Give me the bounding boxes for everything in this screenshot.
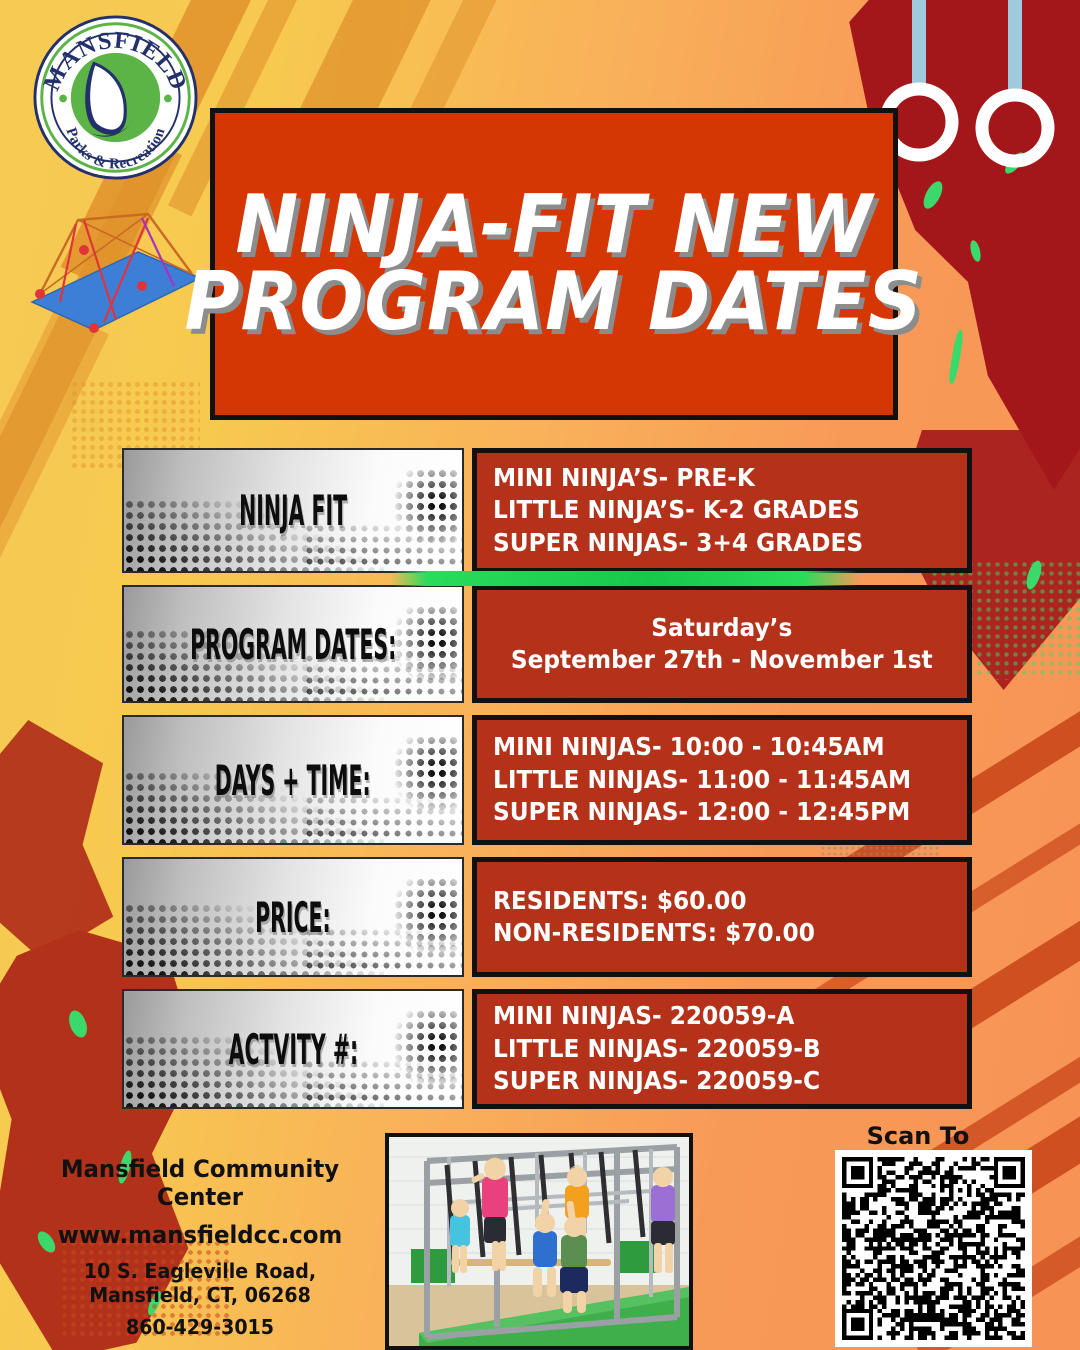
qr-code-image — [842, 1157, 1025, 1340]
contact-info: Mansfield Community Center www.mansfield… — [20, 1155, 380, 1339]
table-row: DAYS + TIME: MINI NINJAS- 10:00 - 10:45A… — [0, 715, 1080, 845]
row-label: PRICE: — [255, 892, 331, 942]
ninja-gym-photo-illustration — [389, 1137, 689, 1347]
row-label-panel: DAYS + TIME: — [122, 715, 464, 845]
row-label-panel: NINJA FIT — [122, 448, 464, 573]
row-value: RESIDENTS: $60.00 — [493, 885, 934, 918]
website-link[interactable]: www.mansfieldcc.com — [29, 1221, 371, 1249]
row-value: LITTLE NINJAS- 11:00 - 11:45AM — [493, 764, 934, 797]
halftone-dots — [382, 735, 458, 813]
row-value-panel: MINI NINJAS- 10:00 - 10:45AM LITTLE NINJ… — [472, 715, 972, 845]
row-value: Saturday’s — [651, 612, 792, 645]
row-label: NINJA FIT — [239, 486, 347, 536]
row-value: September 27th - November 1st — [511, 644, 933, 677]
row-value: SUPER NINJAS- 12:00 - 12:45PM — [493, 796, 934, 829]
row-label-panel: PROGRAM DATES: — [122, 585, 464, 703]
row-value: MINI NINJAS- 220059-A — [493, 1000, 934, 1033]
row-label: PROGRAM DATES: — [190, 619, 396, 669]
row-value: MINI NINJA’S- PRE-K — [493, 462, 934, 495]
table-row: NINJA FIT MINI NINJA’S- PRE-K LITTLE NIN… — [0, 448, 1080, 573]
halftone-dots — [382, 877, 458, 955]
title-line-2: PROGRAM DATES — [185, 264, 923, 341]
row-value-panel: MINI NINJAS- 220059-A LITTLE NINJAS- 220… — [472, 989, 972, 1109]
row-value-panel: RESIDENTS: $60.00 NON-RESIDENTS: $70.00 — [472, 857, 972, 977]
halftone-dots — [382, 1009, 458, 1087]
gym-mat-illustration — [20, 190, 210, 350]
row-value: LITTLE NINJAS- 220059-B — [493, 1033, 934, 1066]
gymnastic-rings-icon — [880, 0, 1080, 180]
row-label: ACTVITY #: — [228, 1024, 357, 1074]
row-value: SUPER NINJAS- 3+4 GRADES — [493, 527, 934, 560]
row-value-panel: Saturday’s September 27th - November 1st — [472, 585, 972, 703]
row-value: LITTLE NINJA’S- K-2 GRADES — [493, 494, 934, 527]
green-paint-dab — [947, 330, 964, 385]
halftone-dots — [382, 468, 458, 546]
program-details-table: NINJA FIT MINI NINJA’S- PRE-K LITTLE NIN… — [0, 448, 1080, 1121]
row-label: DAYS + TIME: — [215, 755, 371, 805]
green-brush-stroke — [390, 571, 860, 586]
title-line-1: NINJA-FIT NEW — [235, 187, 873, 264]
phone-number[interactable]: 860-429-3015 — [29, 1315, 371, 1339]
table-row: PROGRAM DATES: Saturday’s September 27th… — [0, 585, 1080, 703]
table-row: ACTVITY #: MINI NINJAS- 220059-A LITTLE … — [0, 989, 1080, 1109]
row-value: MINI NINJAS- 10:00 - 10:45AM — [493, 731, 934, 764]
row-value-panel: MINI NINJA’S- PRE-K LITTLE NINJA’S- K-2 … — [472, 448, 972, 573]
mansfield-parks-recreation-logo: MANSFIELD Parks & Recreation — [33, 15, 198, 180]
table-row: PRICE: RESIDENTS: $60.00 NON-RESIDENTS: … — [0, 857, 1080, 977]
qr-code[interactable] — [835, 1150, 1032, 1347]
street-address: 10 S. Eagleville Road, Mansfield, CT, 06… — [29, 1259, 371, 1307]
row-value: SUPER NINJAS- 220059-C — [493, 1065, 934, 1098]
row-label-panel: ACTVITY #: — [122, 989, 464, 1109]
venue-name: Mansfield Community Center — [29, 1155, 371, 1211]
program-photo — [385, 1133, 693, 1350]
row-label-panel: PRICE: — [122, 857, 464, 977]
row-value: NON-RESIDENTS: $70.00 — [493, 917, 934, 950]
flyer-title-box: NINJA-FIT NEW PROGRAM DATES — [210, 108, 898, 420]
